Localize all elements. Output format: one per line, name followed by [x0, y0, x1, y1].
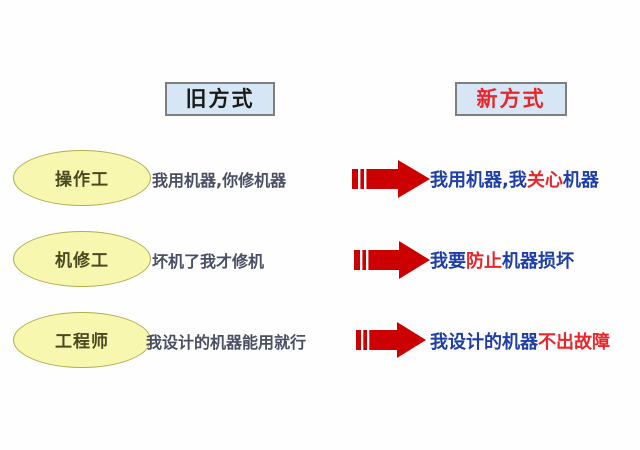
- new-way-segment-emphasis: 防止: [466, 247, 502, 273]
- new-way-segment: 机器: [563, 166, 599, 192]
- old-way-statement: 我设计的机器能用就行: [146, 310, 306, 372]
- comparison-row: 工程师 我设计的机器能用就行 我设计的机器不出故障: [0, 310, 640, 372]
- role-label: 操作工: [55, 165, 109, 190]
- role-ellipse: 工程师: [13, 312, 151, 368]
- new-way-segment-emphasis: 关心: [527, 166, 563, 192]
- header-old-way-label: 旧方式: [186, 89, 255, 110]
- diagram-canvas: 旧方式 新方式 操作工 我用机器,你修机器 我用机器,我关心机器 机修工 坏机了…: [0, 0, 640, 450]
- comparison-row: 机修工 坏机了我才修机 我要防止机器损坏: [0, 229, 640, 291]
- new-way-statement: 我要防止机器损坏: [430, 229, 574, 291]
- right-arrow-icon: [352, 159, 430, 203]
- new-way-segment-emphasis: 不出故障: [538, 328, 610, 354]
- right-arrow-icon: [356, 321, 426, 363]
- header-new-way-label: 新方式: [477, 89, 546, 110]
- header-box-old-way: 旧方式: [165, 82, 275, 116]
- role-label: 机修工: [55, 246, 109, 271]
- new-way-segment: 我用机器,我: [430, 166, 527, 192]
- new-way-segment: 我要: [430, 247, 466, 273]
- role-ellipse: 机修工: [13, 231, 151, 287]
- new-way-statement: 我用机器,我关心机器: [430, 148, 599, 210]
- role-label: 工程师: [55, 327, 109, 352]
- new-way-segment: 机器损坏: [502, 247, 574, 273]
- role-ellipse: 操作工: [13, 150, 151, 206]
- right-arrow-icon: [354, 240, 430, 284]
- old-way-statement: 我用机器,你修机器: [152, 148, 286, 210]
- new-way-statement: 我设计的机器不出故障: [430, 310, 610, 372]
- comparison-row: 操作工 我用机器,你修机器 我用机器,我关心机器: [0, 148, 640, 210]
- old-way-statement: 坏机了我才修机: [152, 229, 264, 291]
- header-box-new-way: 新方式: [455, 82, 567, 116]
- new-way-segment: 我设计的机器: [430, 328, 538, 354]
